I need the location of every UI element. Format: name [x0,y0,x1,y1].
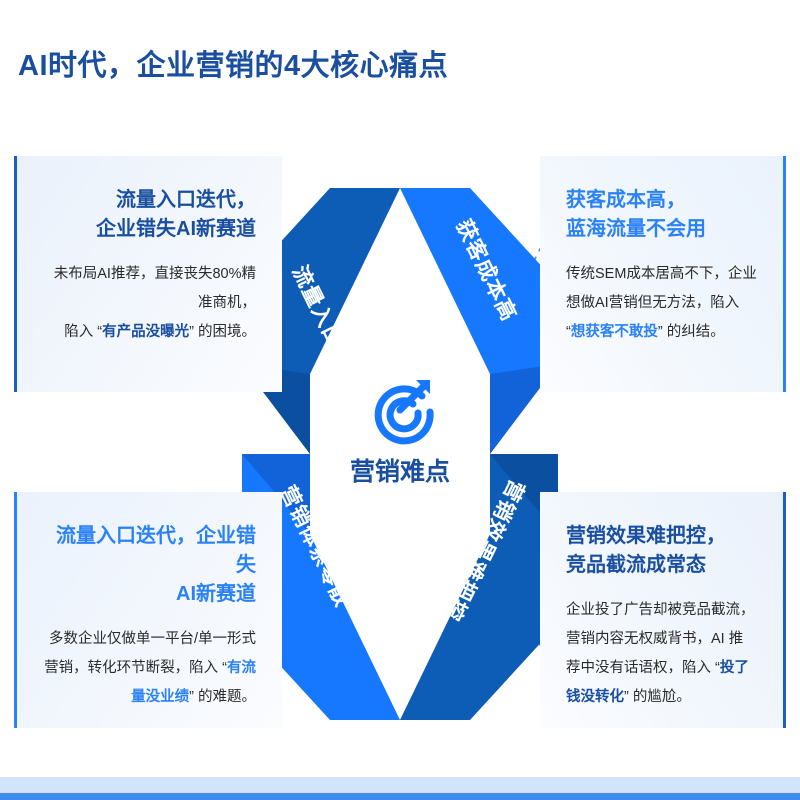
central-diamond: 流量入口迭代 获客成本高 营销体系零散 营销效果难把控 [240,178,560,730]
card-body-post: ” 的尴尬。 [624,689,691,705]
pain-point-card-top-left[interactable]: 流量入口迭代， 企业错失AI新赛道 未布局AI推荐，直接丧失80%精准商机， 陷… [14,156,282,392]
card-body-highlight: 有产品没曝光 [102,324,189,340]
page-title: AI时代，企业营销的4大核心痛点 [18,42,448,84]
pain-point-card-bottom-right[interactable]: 营销效果难把控， 竞品截流成常态 企业投了广告却被竞品截流，营销内容无权威背书，… [540,492,786,728]
card-title: 流量入口迭代， 企业错失AI新赛道 [43,186,256,244]
card-body: 多数企业仅做单一平台/单一形式营销，转化环节断裂，陷入 “有流量没业绩” 的难题… [43,625,256,712]
card-body: 未布局AI推荐，直接丧失80%精准商机， 陷入 “有产品没曝光” 的困境。 [43,260,256,347]
infographic-canvas: AI时代，企业营销的4大核心痛点 流量入口迭代 获客成本高 [0,0,800,800]
pain-point-card-bottom-left[interactable]: 流量入口迭代，企业错失 AI新赛道 多数企业仅做单一平台/单一形式营销，转化环节… [14,492,282,728]
card-title: 流量入口迭代，企业错失 AI新赛道 [43,522,256,609]
card-title: 获客成本高， 蓝海流量不会用 [566,186,757,244]
card-title: 营销效果难把控， 竞品截流成常态 [566,522,757,580]
card-body-post: ” 的困境。 [189,324,256,340]
pain-point-card-top-right[interactable]: 获客成本高， 蓝海流量不会用 传统SEM成本居高不下，企业想做AI营销但无方法，… [540,156,786,392]
diamond-segment-bottom-right[interactable]: 营销效果难把控 [400,454,558,720]
footer-band-light [0,777,800,793]
card-body-post: ” 的难题。 [189,689,256,705]
card-body-highlight: 想获客不敢投 [571,324,658,340]
card-body-pre: 多数企业仅做单一平台/单一形式营销，转化环节断裂，陷入 “ [44,631,256,676]
target-arrow-icon [378,380,430,441]
card-body: 传统SEM成本居高不下，企业想做AI营销但无方法，陷入 “想获客不敢投” 的纠结… [566,260,757,347]
footer-band-accent [0,793,800,800]
card-body: 企业投了广告却被竞品截流，营销内容无权威背书，AI 推荐中没有话语权，陷入 “投… [566,596,757,712]
card-body-post: ” 的纠结。 [658,324,725,340]
center-label: 营销难点 [350,458,450,486]
diamond-segment-top-right[interactable]: 获客成本高 [400,188,558,454]
